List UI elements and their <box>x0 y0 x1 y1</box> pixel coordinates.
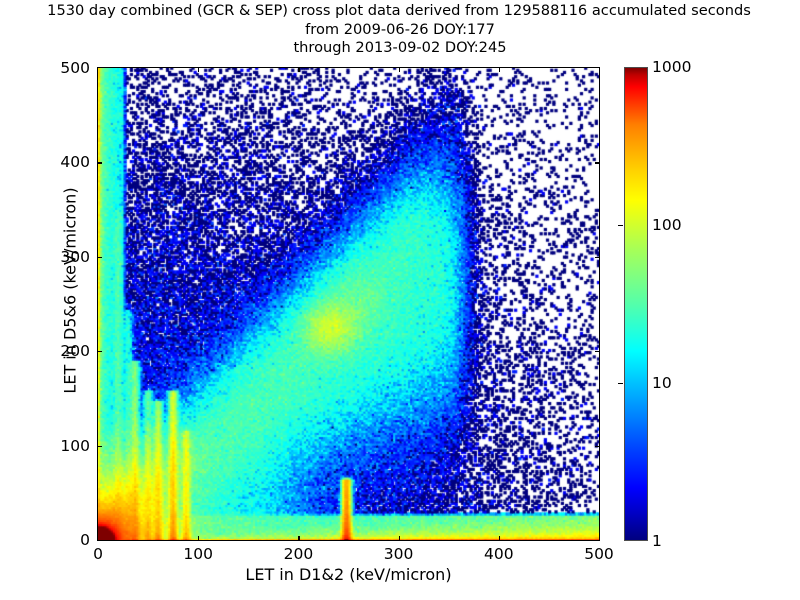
colorbar[interactable] <box>624 67 648 541</box>
y-tick-mark <box>595 257 599 258</box>
x-tick-label: 500 <box>584 545 614 563</box>
x-tick-mark <box>298 68 299 72</box>
y-tick-mark <box>98 351 102 352</box>
colorbar-tick-mark <box>618 383 623 384</box>
x-tick-mark <box>298 536 299 540</box>
colorbar-tick-label: 10 <box>652 374 672 392</box>
y-tick-mark <box>595 162 599 163</box>
x-tick-mark <box>399 68 400 72</box>
colorbar-tick-label: 1000 <box>652 58 691 76</box>
heatmap-canvas <box>98 68 599 540</box>
colorbar-tick-mark <box>618 225 623 226</box>
title-line-3: through 2013-09-02 DOY:245 <box>0 39 800 58</box>
figure-title: 1530 day combined (GCR & SEP) cross plot… <box>0 2 800 58</box>
x-tick-mark <box>499 536 500 540</box>
x-tick-label: 0 <box>93 545 103 563</box>
colorbar-tick-label: 100 <box>652 216 682 234</box>
x-tick-label: 200 <box>284 545 314 563</box>
y-axis-label: LET in D5&6 (keV/micron) <box>61 54 80 528</box>
y-tick-label: 0 <box>80 531 90 549</box>
y-tick-mark <box>98 257 102 258</box>
x-tick-label: 300 <box>384 545 414 563</box>
x-tick-mark <box>198 68 199 72</box>
x-tick-mark <box>499 68 500 72</box>
y-tick-mark <box>595 351 599 352</box>
x-tick-label: 400 <box>484 545 514 563</box>
y-tick-mark <box>595 446 599 447</box>
title-line-2: from 2009-06-26 DOY:177 <box>0 21 800 40</box>
x-tick-label: 100 <box>183 545 213 563</box>
y-tick-mark <box>98 162 102 163</box>
x-tick-mark <box>198 536 199 540</box>
y-tick-mark <box>98 446 102 447</box>
x-tick-mark <box>399 536 400 540</box>
title-line-1: 1530 day combined (GCR & SEP) cross plot… <box>0 2 800 21</box>
x-axis-label: LET in D1&2 (keV/micron) <box>97 565 600 584</box>
plot-axes[interactable] <box>97 67 600 541</box>
colorbar-tick-label: 1 <box>652 532 662 550</box>
